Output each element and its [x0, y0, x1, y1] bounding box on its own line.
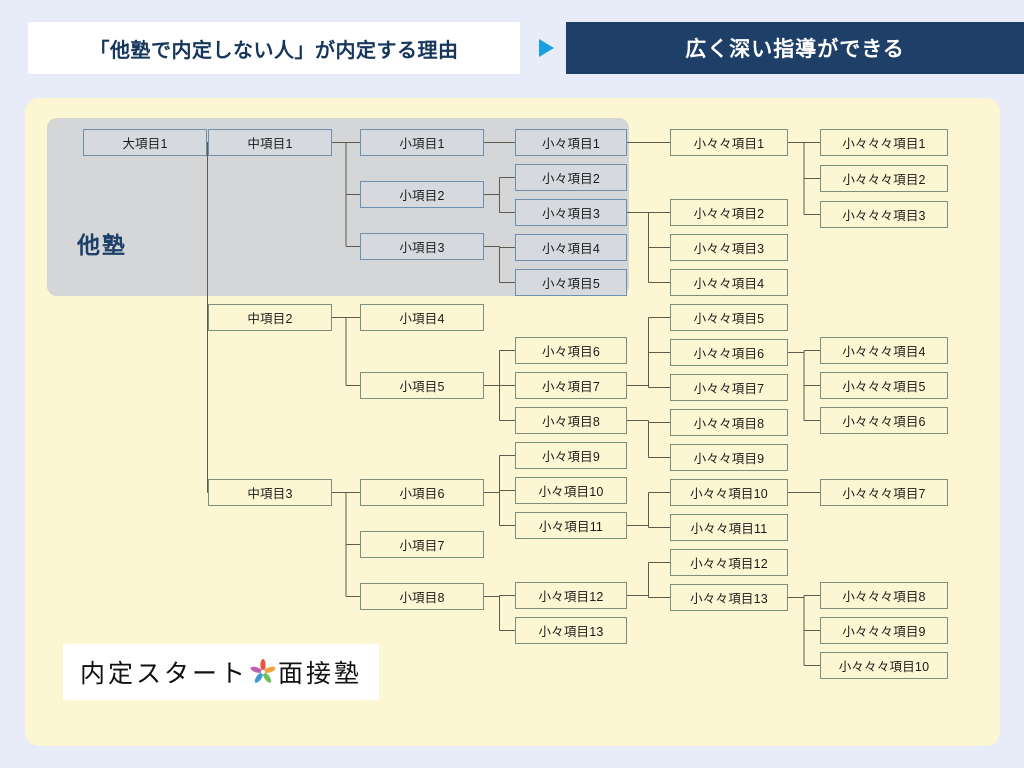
header-right-panel: 広く深い指導ができる	[566, 22, 1024, 74]
tree-node[interactable]: 小項目6	[360, 479, 484, 506]
tree-node[interactable]: 小々々項目7	[670, 374, 788, 401]
tree-node[interactable]: 小々々々項目6	[820, 407, 948, 434]
tree-node[interactable]: 小項目4	[360, 304, 484, 331]
tree-node[interactable]: 小々々々項目9	[820, 617, 948, 644]
tree-node[interactable]: 小々々項目10	[670, 479, 788, 506]
tree-node[interactable]: 小項目5	[360, 372, 484, 399]
tree-node[interactable]: 小々項目2	[515, 164, 627, 191]
tree-node[interactable]: 小々々項目12	[670, 549, 788, 576]
tree-node[interactable]: 中項目1	[208, 129, 332, 156]
diagram-card: 他塾 大項目1中項目1中項目2中項目3小項目1小項目2小項目3小項目4小項目5小…	[25, 98, 1000, 746]
header-bar: 「他塾で内定しない人」が内定する理由 広く深い指導ができる	[0, 22, 1024, 74]
tree-node[interactable]: 小々々項目3	[670, 234, 788, 261]
tree-node[interactable]: 小々項目5	[515, 269, 627, 296]
tree-node[interactable]: 小々々項目4	[670, 269, 788, 296]
tree-node[interactable]: 小々々々項目8	[820, 582, 948, 609]
tree-node[interactable]: 小々々項目13	[670, 584, 788, 611]
tree-node[interactable]: 小々項目4	[515, 234, 627, 261]
tree-node[interactable]: 小項目2	[360, 181, 484, 208]
tree-node[interactable]: 小々々々項目3	[820, 201, 948, 228]
tree-node[interactable]: 小々々項目6	[670, 339, 788, 366]
tree-node[interactable]: 小々々々項目7	[820, 479, 948, 506]
tree-node[interactable]: 小項目1	[360, 129, 484, 156]
tree-node[interactable]: 小々項目10	[515, 477, 627, 504]
tree-node[interactable]: 小々項目6	[515, 337, 627, 364]
tree-node[interactable]: 小々々々項目1	[820, 129, 948, 156]
tree-node[interactable]: 小々項目9	[515, 442, 627, 469]
tree-node[interactable]: 小項目8	[360, 583, 484, 610]
play-triangle-icon	[534, 36, 558, 60]
flower-sparkle-icon	[250, 659, 276, 685]
tree-node[interactable]: 中項目3	[208, 479, 332, 506]
logo-text-right: 面接塾	[278, 654, 362, 690]
tree-node[interactable]: 小々々々項目4	[820, 337, 948, 364]
tree-node[interactable]: 小項目3	[360, 233, 484, 260]
logo-text-left: 内定スタート	[80, 654, 248, 690]
header-right-label: 広く深い指導ができる	[685, 33, 905, 63]
tree-node[interactable]: 小々々々項目5	[820, 372, 948, 399]
tree-node[interactable]: 小々項目13	[515, 617, 627, 644]
tree-node[interactable]: 小々々項目9	[670, 444, 788, 471]
tree-node[interactable]: 小々々々項目2	[820, 165, 948, 192]
tree-node[interactable]: 小々項目3	[515, 199, 627, 226]
tree-node[interactable]: 小々々項目5	[670, 304, 788, 331]
tree-node[interactable]: 中項目2	[208, 304, 332, 331]
tree-node[interactable]: 小々々々項目10	[820, 652, 948, 679]
tree-node[interactable]: 小項目7	[360, 531, 484, 558]
tree-node[interactable]: 小々々項目1	[670, 129, 788, 156]
brand-logo: 内定スタート 面接塾	[63, 644, 379, 700]
tree-node[interactable]: 小々項目11	[515, 512, 627, 539]
header-left-panel: 「他塾で内定しない人」が内定する理由	[28, 22, 520, 74]
tree-node[interactable]: 大項目1	[83, 129, 207, 156]
tree-node[interactable]: 小々項目12	[515, 582, 627, 609]
tree-node[interactable]: 小々項目1	[515, 129, 627, 156]
tree-node[interactable]: 小々項目8	[515, 407, 627, 434]
tree-node[interactable]: 小々々項目2	[670, 199, 788, 226]
tree-node[interactable]: 小々項目7	[515, 372, 627, 399]
tree-node[interactable]: 小々々項目11	[670, 514, 788, 541]
tree-node[interactable]: 小々々項目8	[670, 409, 788, 436]
header-left-label: 「他塾で内定しない人」が内定する理由	[90, 34, 459, 63]
